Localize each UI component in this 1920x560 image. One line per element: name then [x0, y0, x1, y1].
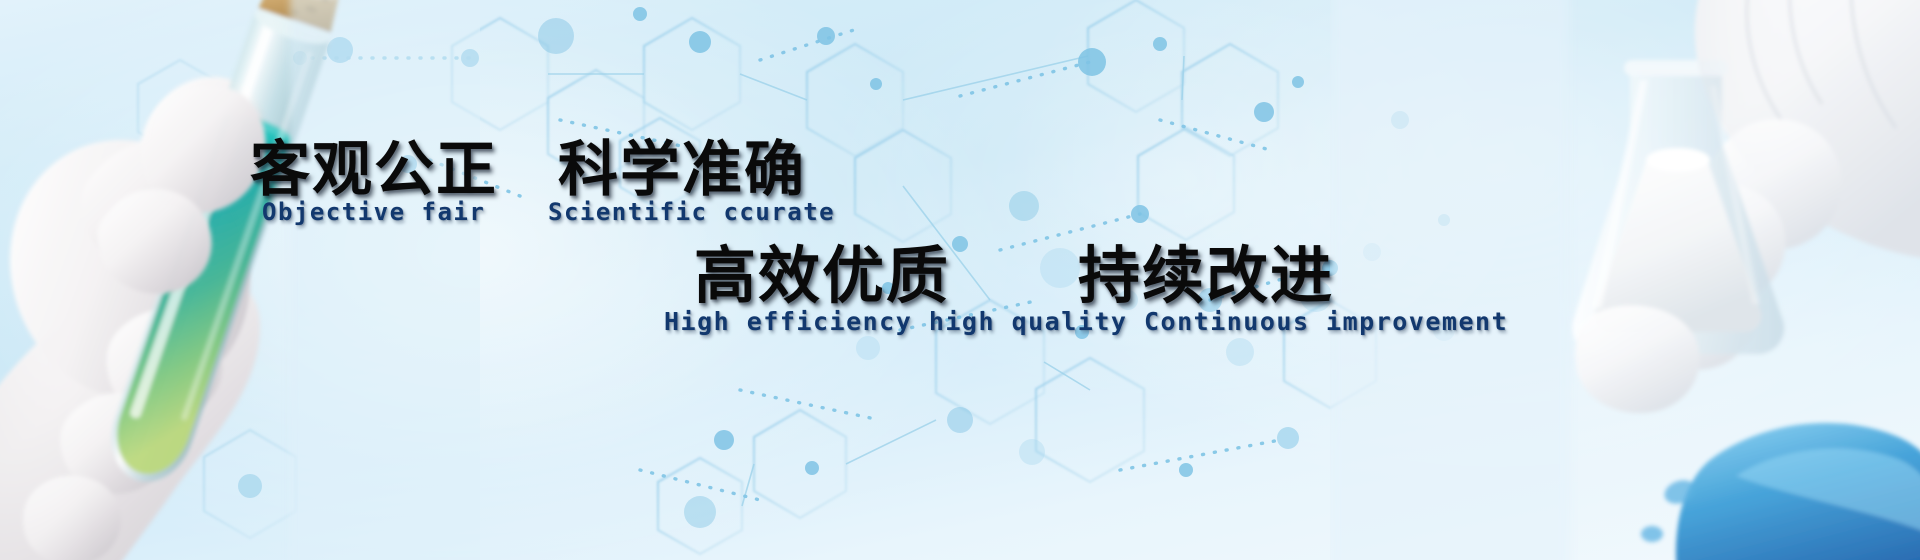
slogan-cn-high-efficiency-quality: 高效优质: [694, 246, 950, 308]
slogan-en-objective-fair: Objective fair: [262, 198, 485, 226]
slogan-en-scientific-accurate: Scientific ccurate: [548, 198, 835, 226]
slogan-cn-scientific-accurate: 科学准确: [558, 140, 806, 200]
slogan-en-bottom-line: High efficiency high quality Continuous …: [664, 307, 1508, 336]
slogan-text-block: 客观公正 科学准确 Objective fair Scientific ccur…: [0, 0, 1920, 560]
lab-slogan-banner: 客观公正 科学准确 Objective fair Scientific ccur…: [0, 0, 1920, 560]
slogan-cn-objective-fair: 客观公正: [250, 140, 498, 200]
slogan-cn-continuous-improvement: 持续改进: [1078, 246, 1334, 308]
